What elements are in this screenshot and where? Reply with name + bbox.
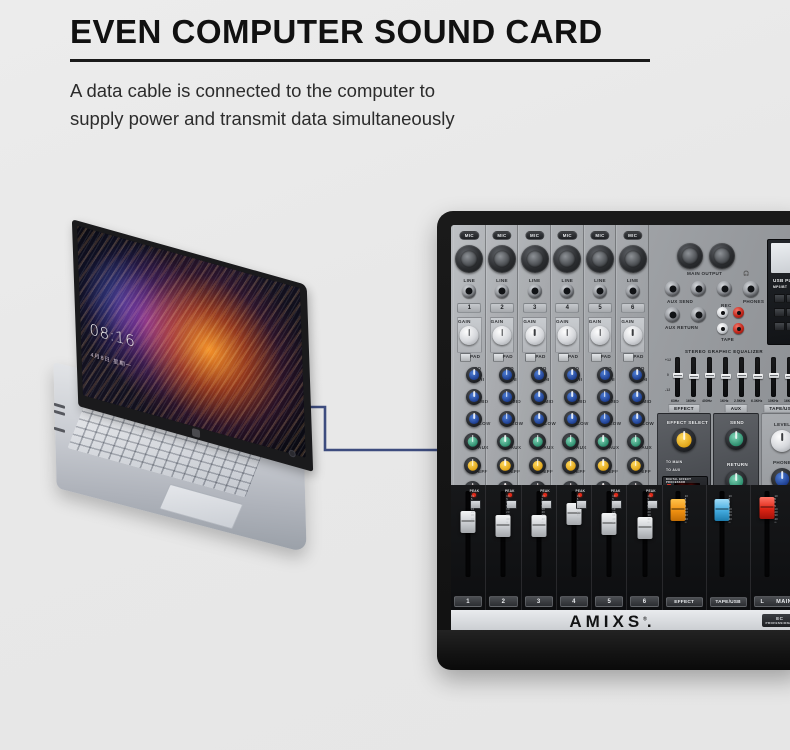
xlr-mic-input[interactable] — [553, 245, 581, 273]
peak-label: PEAK — [646, 489, 656, 493]
xlr-mic-input[interactable] — [488, 245, 516, 273]
mic-label: MIC — [460, 231, 479, 240]
fader-label: 3 — [525, 596, 553, 607]
line-input-jack[interactable] — [495, 284, 509, 298]
eq-hi-label: HI — [642, 377, 647, 382]
fader-scale: 1050510203040∞ — [729, 495, 732, 524]
line-label: LINE — [496, 278, 508, 283]
eq-scale-top: +12 — [665, 358, 671, 362]
channel-number: 5 — [588, 303, 612, 313]
gain-knob[interactable] — [591, 326, 610, 345]
line-input-jack[interactable] — [528, 284, 542, 298]
laptop-ports — [53, 400, 71, 449]
line-label: LINE — [627, 278, 639, 283]
fader-scale: 1050510203040∞ — [506, 495, 509, 524]
gain-knob[interactable] — [493, 326, 512, 345]
mixer-control-surface: MIC LINE 1 GAIN PAD EQ HI MID LO — [451, 225, 790, 634]
aux-return-jack-r[interactable] — [691, 307, 706, 322]
fader-channel: PEAK 1050510203040∞ 2 — [486, 485, 521, 610]
gain-label: GAIN — [491, 319, 504, 324]
fader-scale: 1050510203040∞ — [685, 495, 688, 524]
fader-channel-effect: 1050510203040∞ EFFECT — [663, 485, 707, 610]
eff-label: EFF — [641, 469, 651, 474]
phones-knob-label: PHONES — [773, 460, 790, 465]
eq-band-label: 16KHz — [784, 399, 790, 403]
gain-knob[interactable] — [623, 326, 642, 345]
effect-to-main-label: TO MAIN — [666, 460, 682, 464]
xlr-mic-input[interactable] — [455, 245, 483, 273]
effect-section-title: EFFECT — [668, 404, 700, 413]
gain-label: GAIN — [458, 319, 471, 324]
fader-channel-main: 1050510203040∞ L MAIN — [751, 485, 790, 610]
gain-label: GAIN — [556, 319, 569, 324]
brand-logo: AMIXS®. — [569, 612, 655, 632]
aux-return-jack-l[interactable] — [665, 307, 680, 322]
eq-scale-mid: 0 — [667, 373, 669, 377]
peak-label: PEAK — [505, 489, 515, 493]
eq-band-slider[interactable] — [691, 357, 696, 397]
line-label: LINE — [463, 278, 475, 283]
headphone-icon: 🎧 — [743, 271, 750, 277]
mic-label: MIC — [623, 231, 642, 240]
usb-port-2 — [54, 410, 65, 416]
fader-label: 6 — [630, 596, 658, 607]
pad-label: PAD — [535, 354, 545, 359]
eq-hi-label: HI — [577, 377, 582, 382]
effect-fader[interactable] — [671, 499, 686, 521]
mic-label: MIC — [525, 231, 544, 240]
eq-band-slider[interactable] — [739, 357, 744, 397]
pad-label: PAD — [633, 354, 643, 359]
mic-label: MIC — [590, 231, 609, 240]
xlr-mic-input[interactable] — [619, 245, 647, 273]
aux-return-knob-label: RETURN — [727, 462, 748, 467]
mi-logo-icon — [191, 428, 199, 438]
effect-to-aux-label: TO AUX — [666, 468, 680, 472]
fader-label: 2 — [489, 596, 517, 607]
fader-label: 1 — [454, 596, 482, 607]
fader-label: 4 — [560, 596, 588, 607]
peak-label: PEAK — [470, 489, 480, 493]
channel-number: 2 — [490, 303, 514, 313]
main-output-xlr-left[interactable] — [677, 243, 703, 269]
pad-label: PAD — [568, 354, 578, 359]
tape-usb-fader[interactable] — [715, 499, 730, 521]
phones-label: PHONES — [743, 299, 764, 304]
page-title: EVEN COMPUTER SOUND CARD — [70, 14, 730, 51]
subtitle-line-1: A data cable is connected to the compute… — [70, 77, 630, 105]
audio-mixer-device: MIC LINE 1 GAIN PAD EQ HI MID LO — [437, 211, 790, 670]
eq-band-label: 2.5KHz — [734, 399, 745, 403]
fader-channel: PEAK 1050510203040∞ 4 — [557, 485, 592, 610]
page-subtitle: A data cable is connected to the compute… — [70, 77, 630, 133]
eq-band-slider[interactable] — [771, 357, 776, 397]
gain-label: GAIN — [621, 319, 634, 324]
fader-scale: 1050510203040∞ — [471, 495, 474, 524]
line-label: LINE — [529, 278, 541, 283]
main-output-xlr-right[interactable] — [709, 243, 735, 269]
mic-label: MIC — [558, 231, 577, 240]
pad-label: PAD — [470, 354, 480, 359]
gain-label: GAIN — [589, 319, 602, 324]
line-input-jack[interactable] — [560, 284, 574, 298]
eq-band-slider[interactable] — [723, 357, 728, 397]
usb-player-sublabel: MP3/BT — [773, 285, 787, 289]
eq-band-label: 1KHz — [720, 399, 728, 403]
aux-return-label: AUX RETURN — [665, 325, 698, 330]
line-label: LINE — [594, 278, 606, 283]
product-feature-slide: EVEN COMPUTER SOUND CARD A data cable is… — [0, 0, 790, 750]
main-fader[interactable] — [759, 497, 774, 519]
fader-bank: PEAK 1050510203040∞ 1 PEAK 105051020 — [451, 485, 790, 610]
main-output-label: MAIN OUTPUT — [687, 271, 722, 276]
usb-bluetooth-button[interactable] — [786, 308, 790, 317]
channel-number: 1 — [457, 303, 481, 313]
channel-number: 3 — [523, 303, 547, 313]
eq-band-label: 63Hz — [671, 399, 679, 403]
eq-hi-label: HI — [544, 377, 549, 382]
fader-scale: 1050510203040∞ — [612, 495, 615, 524]
usb-play-button[interactable] — [786, 294, 790, 303]
main-fader-label-main: MAIN — [776, 599, 790, 605]
eq-band-label: 160Hz — [686, 399, 696, 403]
fader-channel-tape-usb: 1050510203040∞ TAPE/USB — [707, 485, 751, 610]
main-fader-label-group: L MAIN — [754, 596, 790, 607]
aux-send-knob-label: SEND — [730, 420, 744, 425]
usb-player-module[interactable]: USB PLAYER MP3/BT — [767, 239, 790, 345]
rca-tape-right[interactable] — [733, 323, 744, 334]
brand-name: AMIXS — [569, 612, 643, 631]
header-block: EVEN COMPUTER SOUND CARD A data cable is… — [70, 14, 730, 133]
rca-rec-right[interactable] — [733, 307, 744, 318]
channel-number: 6 — [621, 303, 645, 313]
usb-player-label: USB PLAYER — [773, 278, 790, 283]
mixer-chassis-bottom — [437, 630, 790, 670]
fader-channel: PEAK 1050510203040∞ 3 — [522, 485, 557, 610]
aux-send-knob[interactable] — [725, 428, 747, 450]
usb-vol-down-button[interactable] — [786, 322, 790, 331]
eq-band-slider[interactable] — [675, 357, 680, 397]
aux-section-title: AUX — [725, 404, 748, 413]
eq-band-slider[interactable] — [707, 357, 712, 397]
peak-label: PEAK — [576, 489, 586, 493]
audio-port — [54, 427, 65, 433]
laptop-illustration: 08:16 4月8日 星期一 — [55, 245, 325, 545]
usb-prev-button[interactable] — [774, 294, 785, 303]
eq-band-label: 10KHz — [768, 399, 778, 403]
usb-repeat-button[interactable] — [774, 322, 785, 331]
rca-tape-left[interactable] — [717, 323, 728, 334]
line-label: LINE — [562, 278, 574, 283]
eq-band-label: 400Hz — [702, 399, 712, 403]
fader-scale: 1050510203040∞ — [542, 495, 545, 524]
gain-knob[interactable] — [525, 326, 544, 345]
tape-usb-section-title: TAPE/USB — [763, 404, 790, 413]
graphic-eq-title: STEREO GRAPHIC EQUALIZER — [685, 349, 763, 354]
mic-label: MIC — [492, 231, 511, 240]
eq-band-label: 6.3KHz — [751, 399, 762, 403]
aux-send-jack-2[interactable] — [691, 281, 706, 296]
usb-lcd-display — [771, 243, 790, 273]
aux-send-jack-1[interactable] — [665, 281, 680, 296]
effect-select-knob[interactable] — [672, 428, 696, 452]
gain-knob[interactable] — [460, 326, 479, 345]
peak-label: PEAK — [540, 489, 550, 493]
eq-band-slider[interactable] — [755, 357, 760, 397]
fader-channel: PEAK 1050510203040∞ 6 — [627, 485, 662, 610]
brand-model-badge: EC PROFESSIONAL — [762, 614, 790, 627]
eq-hi-label: HI — [479, 377, 484, 382]
gain-label: GAIN — [523, 319, 536, 324]
tape-usb-level-label: LEVEL — [774, 422, 790, 427]
title-underline — [70, 59, 650, 62]
brand-period: . — [647, 612, 656, 631]
pad-label: PAD — [601, 354, 611, 359]
rca-rec-left[interactable] — [717, 307, 728, 318]
eq-hi-label: HI — [610, 377, 615, 382]
fader-scale: 1050510203040∞ — [577, 495, 580, 524]
fader-label: TAPE/USB — [710, 597, 747, 607]
fader-scale: 1050510203040∞ — [647, 495, 650, 524]
line-input-jack[interactable] — [462, 284, 476, 298]
eq-hi-label: HI — [512, 377, 517, 382]
usb-mode-button[interactable] — [774, 308, 785, 317]
eq-scale-bottom: -12 — [665, 388, 671, 392]
subtitle-line-2: supply power and transmit data simultane… — [70, 105, 630, 133]
badge-line-2: PROFESSIONAL — [766, 622, 790, 626]
effect-select-label: EFFECT SELECT — [667, 420, 708, 425]
fader-scale: 1050510203040∞ — [775, 495, 778, 524]
headphone-jack[interactable] — [743, 281, 759, 297]
main-fader-label-l: L — [760, 599, 764, 605]
usb-port-1 — [54, 403, 65, 409]
aux-send-jack-3[interactable] — [717, 281, 732, 296]
gain-knob[interactable] — [558, 326, 577, 345]
channel-number: 4 — [555, 303, 579, 313]
tape-label: TAPE — [721, 337, 734, 342]
pad-label: PAD — [503, 354, 513, 359]
xlr-mic-input[interactable] — [586, 245, 614, 273]
tape-usb-level-knob[interactable] — [771, 430, 790, 452]
line-input-jack[interactable] — [626, 284, 640, 298]
fader-label: EFFECT — [666, 597, 703, 607]
rec-label: REC — [721, 303, 732, 308]
peak-label: PEAK — [611, 489, 621, 493]
aux-send-label: AUX SEND — [667, 299, 693, 304]
fader-label: 5 — [595, 596, 623, 607]
line-input-jack[interactable] — [593, 284, 607, 298]
fader-channel: PEAK 1050510203040∞ 1 — [451, 485, 486, 610]
xlr-mic-input[interactable] — [521, 245, 549, 273]
fader-channel: PEAK 1050510203040∞ 5 — [592, 485, 627, 610]
